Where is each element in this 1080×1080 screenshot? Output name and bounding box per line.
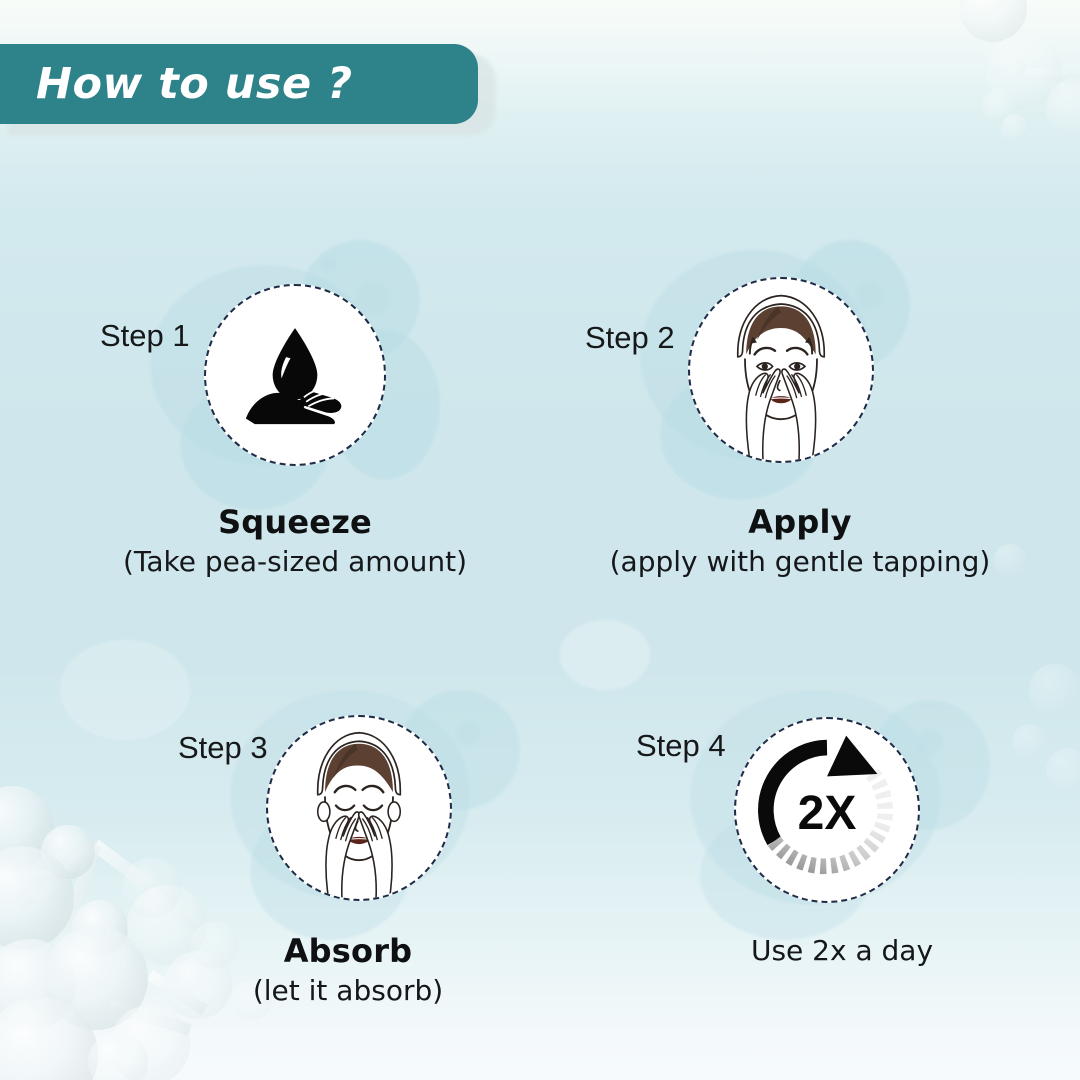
step-4-title: Use 2x a day (562, 934, 1080, 968)
step-2-label: Step 2 (585, 320, 675, 356)
page-title: How to use ? (0, 59, 353, 109)
header-banner: How to use ? (0, 44, 478, 124)
step-3-icon-circle (266, 715, 452, 901)
infographic-page: How to use ? Step 1 Squeeze (0, 0, 1080, 1080)
step-3-subtitle: (let it absorb) (68, 974, 628, 1008)
step-3-label: Step 3 (178, 730, 268, 766)
step-4-icon-circle: 2X (734, 717, 920, 903)
step-2-icon-circle (688, 277, 874, 463)
face-eyes-closed-icon (274, 717, 444, 899)
step-4-badge: 2X (798, 787, 857, 840)
step-1-subtitle: (Take pea-sized amount) (15, 545, 575, 579)
step-2-title: Apply (520, 505, 1080, 541)
step-3-caption: Absorb (let it absorb) (68, 934, 628, 1007)
step-3-title: Absorb (68, 934, 628, 970)
step-4-caption: Use 2x a day (562, 934, 1080, 968)
step-1-caption: Squeeze (Take pea-sized amount) (15, 505, 575, 578)
step-4-label: Step 4 (636, 728, 726, 764)
step-1-title: Squeeze (15, 505, 575, 541)
step-2-subtitle: (apply with gentle tapping) (520, 545, 1080, 579)
circular-arrow-2x-icon: 2X (743, 726, 911, 894)
droplet-in-hand-icon (228, 308, 362, 442)
face-applying-cream-icon (697, 280, 865, 460)
step-2-caption: Apply (apply with gentle tapping) (520, 505, 1080, 578)
banner-body: How to use ? (0, 44, 478, 124)
step-1-label: Step 1 (100, 318, 190, 354)
step-1-icon-circle (204, 284, 386, 466)
